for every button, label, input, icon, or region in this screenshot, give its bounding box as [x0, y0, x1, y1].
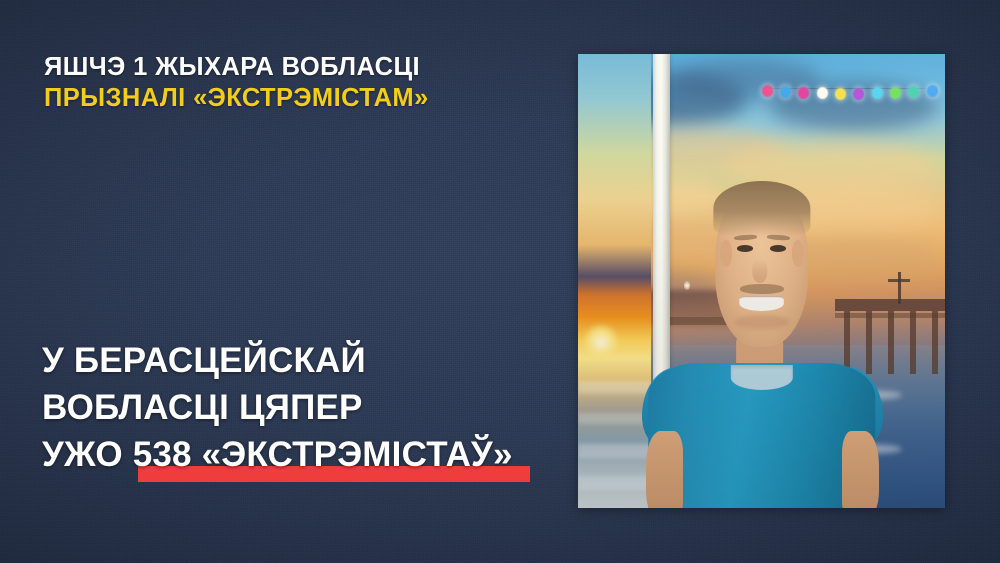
headline-line-3: УЖО 538 «ЭКСТРЭМІСТАЎ» — [42, 431, 552, 478]
headline-line-2: ВОБЛАСЦІ ЦЯПЕР — [42, 384, 552, 431]
headline-text-block: У БЕРАСЦЕЙСКАЙ ВОБЛАСЦІ ЦЯПЕР УЖО 538 «Э… — [42, 337, 552, 478]
subject-photograph — [578, 54, 945, 508]
person-figure — [578, 54, 945, 508]
eye-right — [770, 245, 787, 252]
nose — [752, 258, 767, 283]
kicker-line-2: ПРЫЗНАЛІ «ЭКСТРЭМІСТАМ» — [44, 83, 524, 114]
kicker-text-block: ЯШЧЭ 1 ЖЫХАРА ВОБЛАСЦІ ПРЫЗНАЛІ «ЭКСТРЭМ… — [44, 52, 524, 114]
arm-left — [646, 431, 683, 508]
eye-left — [737, 245, 754, 252]
hair — [713, 181, 810, 235]
moustache — [739, 284, 783, 294]
kicker-line-1: ЯШЧЭ 1 ЖЫХАРА ВОБЛАСЦІ — [44, 52, 524, 83]
arm-right — [842, 431, 879, 508]
tshirt-collar — [730, 365, 792, 390]
headline-line-1: У БЕРАСЦЕЙСКАЙ — [42, 337, 552, 384]
poster-canvas: ЯШЧЭ 1 ЖЫХАРА ВОБЛАСЦІ ПРЫЗНАЛІ «ЭКСТРЭМ… — [0, 0, 1000, 563]
chin-shadow — [734, 315, 789, 329]
